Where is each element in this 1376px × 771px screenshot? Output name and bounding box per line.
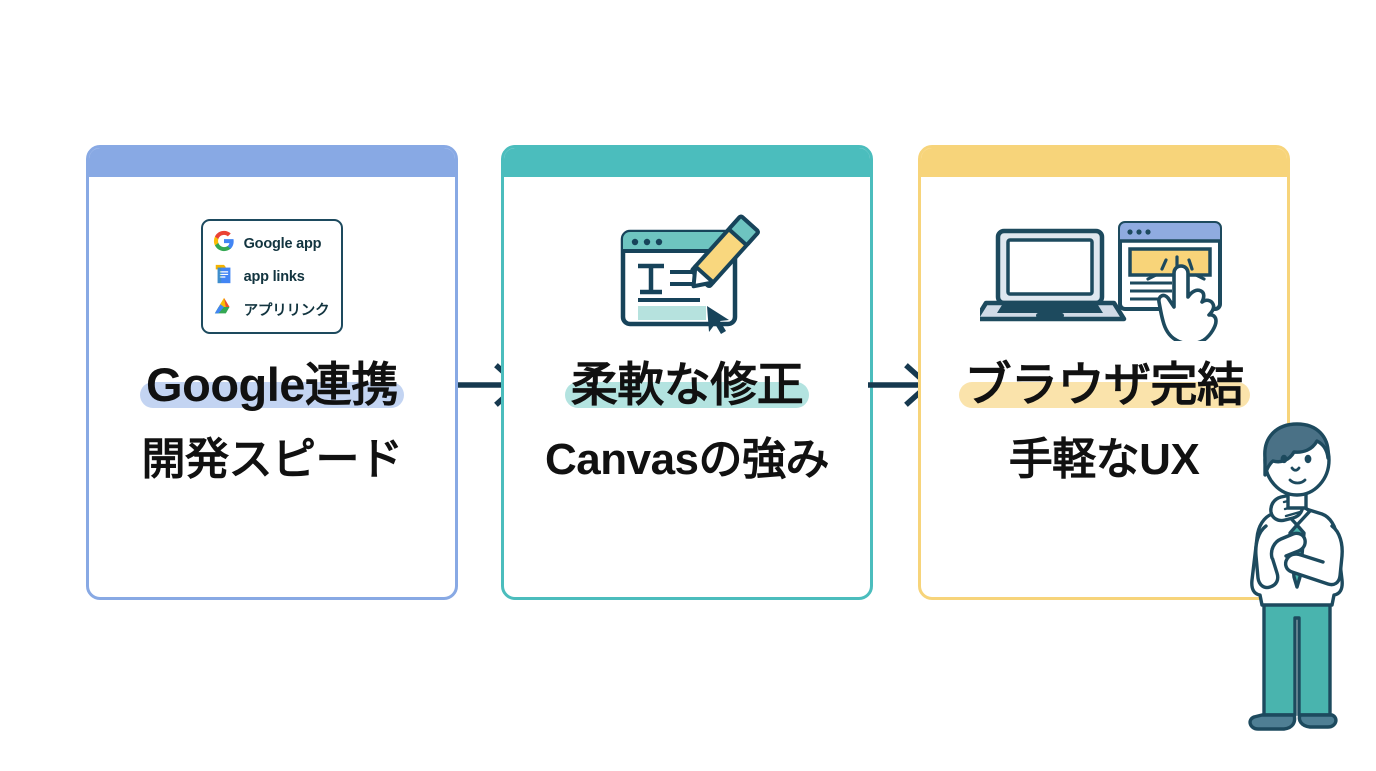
flow-card-flexible-editing[interactable]: 柔軟な修正 Canvasの強み [501,145,873,600]
card-body: Google app app links [89,177,455,597]
card-title-wrap: 柔軟な修正 [571,360,804,410]
laptop-and-browser-tap-icon [921,199,1287,354]
list-item: Google app [213,230,330,257]
card-title: Google連携 [146,358,398,411]
card-title: 柔軟な修正 [571,358,804,411]
card-title: ブラウザ完結 [965,358,1244,411]
card-subtitle: 開発スピード [142,436,403,484]
google-docs-icon [213,263,235,290]
card-header-bar [921,148,1287,177]
google-drive-icon [213,296,235,323]
google-g-icon [213,230,235,257]
card-body: 柔軟な修正 Canvasの強み [504,177,870,597]
list-item: app links [213,263,330,290]
google-links-list: Google app app links [201,219,344,334]
card-header-bar [504,148,870,177]
list-item-label: app links [244,269,305,285]
card-header-bar [89,148,455,177]
list-item-label: Google app [244,236,322,252]
browser-text-edit-pencil-icon [504,199,870,354]
card-title-wrap: ブラウザ完結 [965,360,1244,410]
flow-diagram-canvas: Google app app links [0,0,1376,768]
flow-card-google-integration[interactable]: Google app app links [86,145,458,600]
thinking-businessman-illustration [1222,418,1372,766]
card-subtitle: Canvasの強み [545,436,829,484]
card-subtitle: 手軽なUX [1009,436,1200,484]
list-item: アプリリンク [213,296,330,323]
google-app-links-chip: Google app app links [89,199,455,354]
card-title-wrap: Google連携 [146,360,398,410]
list-item-label: アプリリンク [244,299,330,320]
